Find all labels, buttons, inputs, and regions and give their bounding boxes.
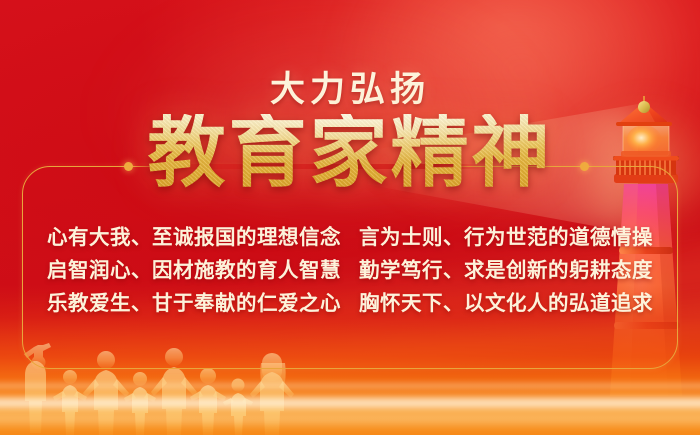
people-holding-hands-silhouette (10, 343, 340, 435)
slogan-column-left: 心有大我、至诚报国的理想信念 启智润心、因材施教的育人智慧 乐教爱生、甘于奉献的… (47, 223, 341, 319)
light-streak (0, 393, 700, 413)
slogan-line: 心有大我、至诚报国的理想信念 (47, 223, 341, 253)
light-streak (0, 381, 700, 391)
slogan-line: 启智润心、因材施教的育人智慧 (47, 256, 341, 286)
slogan-line: 勤学笃行、求是创新的躬耕态度 (359, 256, 653, 286)
slogan-columns: 心有大我、至诚报国的理想信念 启智润心、因材施教的育人智慧 乐教爱生、甘于奉献的… (22, 223, 678, 319)
poster-banner: 大力弘扬 教育家精神 心有大我、至诚报国的理想信念 启智润心、因材施教的育人智慧… (0, 0, 700, 435)
poster-main-title: 教育家精神 (0, 114, 700, 192)
slogan-line: 乐教爱生、甘于奉献的仁爱之心 (47, 289, 341, 319)
light-streak (0, 405, 700, 431)
slogan-column-right: 言为士则、行为世范的道德情操 勤学笃行、求是创新的躬耕态度 胸怀天下、以文化人的… (359, 223, 653, 319)
poster-subtitle: 大力弘扬 (0, 61, 700, 112)
slogan-line: 胸怀天下、以文化人的弘道追求 (359, 289, 653, 319)
slogan-line: 言为士则、行为世范的道德情操 (359, 223, 653, 253)
diagonal-sweep (0, 343, 700, 435)
